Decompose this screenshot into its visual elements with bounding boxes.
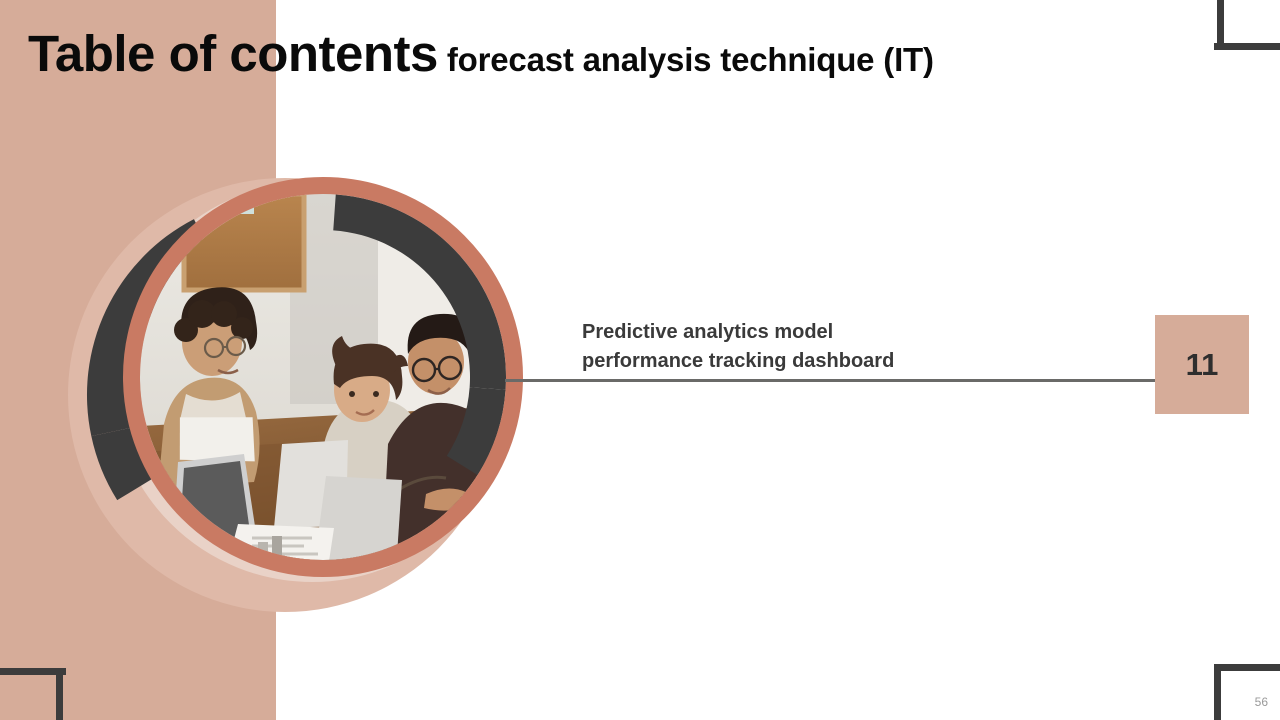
toc-entry-label: Predictive analytics model performance t… xyxy=(582,318,1102,376)
page-number: 56 xyxy=(1255,695,1268,709)
page-title: Table of contents forecast analysis tech… xyxy=(28,18,1228,90)
page-title-suffix: forecast analysis technique (IT) xyxy=(438,41,934,78)
toc-entry-label-line1: Predictive analytics model xyxy=(582,318,1102,347)
toc-entry-number-badge: 11 xyxy=(1155,315,1249,414)
toc-entry-label-line2: performance tracking dashboard xyxy=(582,347,1102,376)
circular-image-composition xyxy=(60,160,530,630)
corner-bracket-bottom-right-icon xyxy=(1208,664,1280,720)
connector-line xyxy=(505,379,1227,382)
accent-ring xyxy=(123,177,523,577)
toc-entry-number: 11 xyxy=(1155,315,1249,414)
corner-bracket-bottom-left-icon xyxy=(0,668,66,720)
slide: Table of contents forecast analysis tech… xyxy=(0,0,1280,720)
page-title-main: Table of contents xyxy=(28,25,438,82)
